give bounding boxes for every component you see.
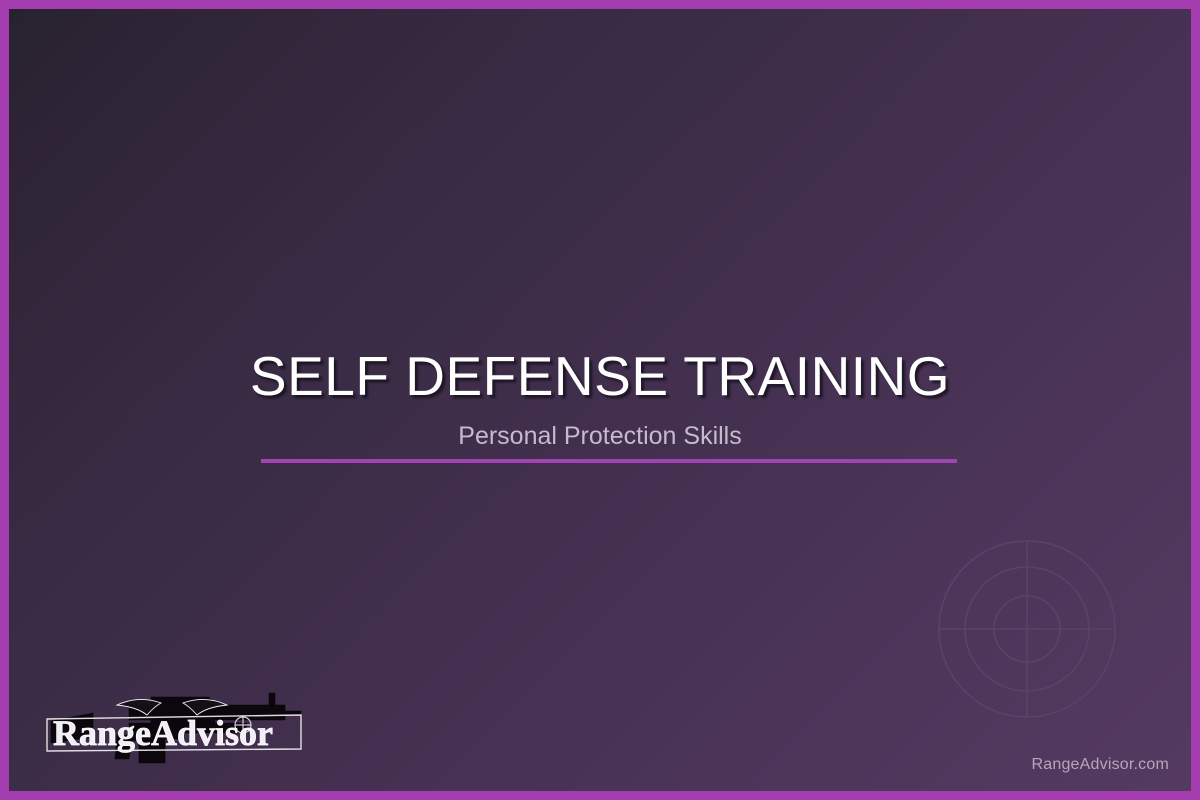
presentation-slide: SELF DEFENSE TRAINING Personal Protectio… xyxy=(0,0,1200,800)
slide-subtitle: Personal Protection Skills xyxy=(9,409,1191,451)
crosshair-target-icon xyxy=(917,519,1137,739)
slide-title: SELF DEFENSE TRAINING xyxy=(9,343,1191,409)
accent-divider xyxy=(261,459,957,463)
footer-url: RangeAdvisor.com xyxy=(1032,756,1170,774)
logo-wordmark: RangeAdvisor xyxy=(53,713,273,753)
title-block: SELF DEFENSE TRAINING Personal Protectio… xyxy=(9,343,1191,451)
rangeadvisor-logo: RangeAdvisor xyxy=(33,677,315,769)
slide-canvas: SELF DEFENSE TRAINING Personal Protectio… xyxy=(9,9,1191,791)
